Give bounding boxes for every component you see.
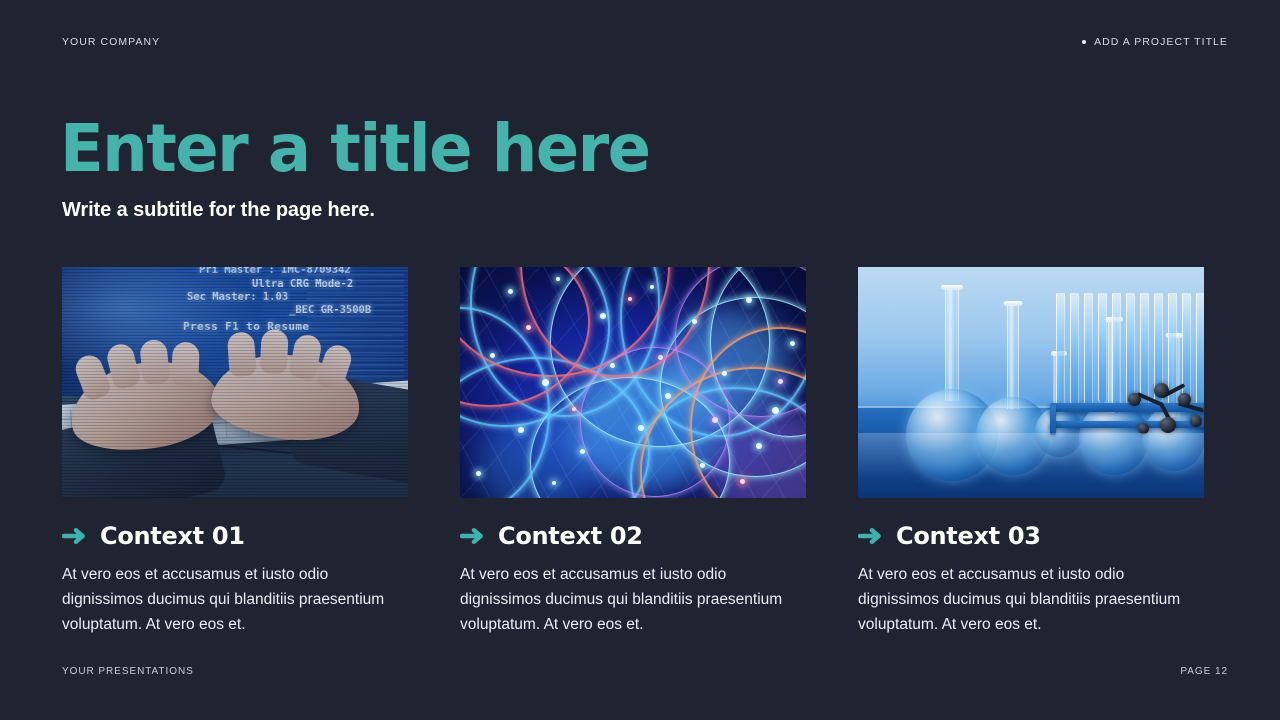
context-card[interactable]: Pri Master : IMC-8709342 Ultra CRG Mode-… <box>62 267 408 637</box>
card-body-text: At vero eos et accusamus et iusto odio d… <box>858 562 1188 637</box>
slide-header: YOUR COMPANY ADD A PROJECT TITLE <box>62 36 1228 54</box>
context-card[interactable]: Context 02 At vero eos et accusamus et i… <box>460 267 806 637</box>
page-subtitle: Write a subtitle for the page here. <box>62 196 375 224</box>
slide-canvas: YOUR COMPANY ADD A PROJECT TITLE Enter a… <box>0 0 1280 720</box>
card-heading: Context 01 <box>62 523 408 549</box>
context-card-list: Pri Master : IMC-8709342 Ultra CRG Mode-… <box>62 267 1205 637</box>
card-image-lab-glassware <box>858 267 1204 498</box>
context-card[interactable]: Context 03 At vero eos et accusamus et i… <box>858 267 1204 637</box>
arrow-right-icon <box>62 526 87 546</box>
project-title-label: ADD A PROJECT TITLE <box>1094 36 1228 48</box>
slide-footer: YOUR PRESENTATIONS PAGE 12 <box>62 666 1228 680</box>
card-body-text: At vero eos et accusamus et iusto odio d… <box>460 562 790 637</box>
footer-left-label: YOUR PRESENTATIONS <box>62 666 194 677</box>
page-number-label: PAGE 12 <box>1180 666 1228 677</box>
card-body-text: At vero eos et accusamus et iusto odio d… <box>62 562 392 637</box>
card-title: Context 01 <box>100 523 245 549</box>
arrow-right-icon <box>460 526 485 546</box>
dot-icon <box>1082 40 1086 44</box>
card-heading: Context 03 <box>858 523 1204 549</box>
arrow-right-icon <box>858 526 883 546</box>
card-image-bios: Pri Master : IMC-8709342 Ultra CRG Mode-… <box>62 267 408 498</box>
card-image-neural-network <box>460 267 806 498</box>
card-title: Context 02 <box>498 523 643 549</box>
card-heading: Context 02 <box>460 523 806 549</box>
project-title-group[interactable]: ADD A PROJECT TITLE <box>1082 36 1228 48</box>
page-title: Enter a title here <box>60 113 650 185</box>
card-title: Context 03 <box>896 523 1041 549</box>
company-label: YOUR COMPANY <box>62 36 160 48</box>
